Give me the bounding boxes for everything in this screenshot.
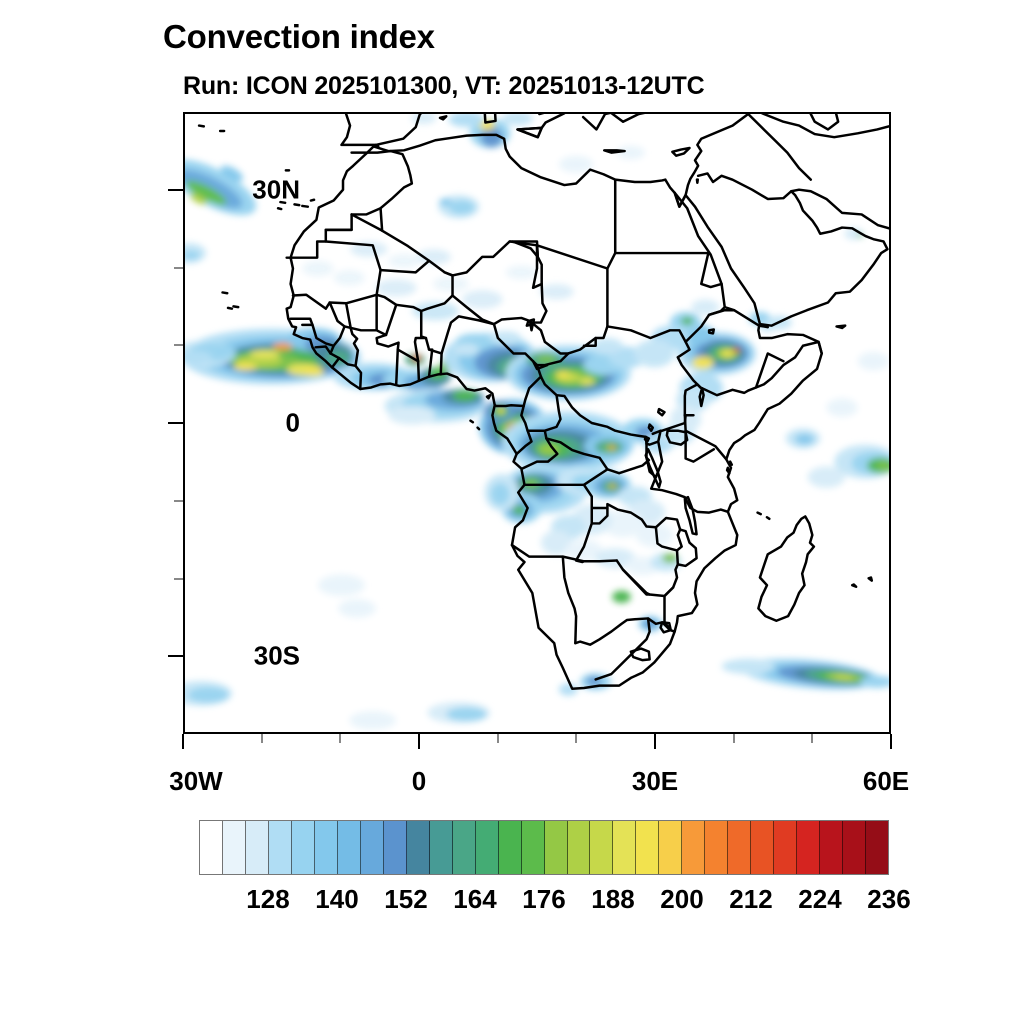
colorbar-cell [843, 821, 866, 874]
y-axis-minor-tick [174, 500, 183, 502]
colorbar-tick-label: 152 [384, 884, 427, 915]
x-axis-major-tick [182, 734, 184, 749]
x-axis-minor-tick [261, 734, 263, 743]
colorbar-cell [705, 821, 728, 874]
colorbar-cell [659, 821, 682, 874]
colorbar-cell [384, 821, 407, 874]
colorbar-cell [590, 821, 613, 874]
run-info-subtitle: Run: ICON 2025101300, VT: 20251013-12UTC [183, 72, 704, 101]
colorbar-cell [338, 821, 361, 874]
colorbar-cell [223, 821, 246, 874]
x-axis-minor-tick [575, 734, 577, 743]
x-axis-major-tick [890, 734, 892, 749]
colorbar-cell [568, 821, 591, 874]
colorbar-tick-label: 224 [798, 884, 841, 915]
colorbar-cell [292, 821, 315, 874]
colorbar-cell [315, 821, 338, 874]
y-axis-major-tick [168, 189, 183, 191]
x-tick-label-30w: 30W [169, 766, 222, 797]
x-tick-label-30e: 30E [632, 766, 678, 797]
y-axis-major-tick [168, 655, 183, 657]
colorbar-cell [774, 821, 797, 874]
colorbar-cell [636, 821, 659, 874]
colorbar-tick-label: 176 [522, 884, 565, 915]
x-tick-label-0: 0 [412, 766, 426, 797]
page-title: Convection index [163, 18, 435, 56]
y-tick-label-0: 0 [286, 408, 300, 439]
x-axis-minor-tick [733, 734, 735, 743]
colorbar-cell [820, 821, 843, 874]
y-tick-label-30n: 30N [252, 175, 300, 206]
colorbar-cell [476, 821, 499, 874]
colorbar-cell [499, 821, 522, 874]
colorbar-tick-label: 140 [315, 884, 358, 915]
x-axis-minor-tick [339, 734, 341, 743]
x-axis-major-tick [418, 734, 420, 749]
colorbar-tick-label: 200 [660, 884, 703, 915]
x-axis-major-tick [654, 734, 656, 749]
colorbar-cell [751, 821, 774, 874]
colorbar-tick-label: 212 [729, 884, 772, 915]
colorbar-cell [613, 821, 636, 874]
colorbar-cell [361, 821, 384, 874]
colorbar-cell [728, 821, 751, 874]
colorbar-cell [269, 821, 292, 874]
x-tick-label-60e: 60E [863, 766, 909, 797]
y-axis-minor-tick [174, 344, 183, 346]
x-axis-minor-tick [497, 734, 499, 743]
colorbar-cell [246, 821, 269, 874]
colorbar-cell [453, 821, 476, 874]
colorbar-cell [200, 821, 223, 874]
colorbar-cell [430, 821, 453, 874]
y-axis-minor-tick [174, 267, 183, 269]
colorbar-cell [545, 821, 568, 874]
colorbar-cell [866, 821, 888, 874]
colorbar-tick-label: 128 [246, 884, 289, 915]
colorbar-cell [407, 821, 430, 874]
colorbar-cell [682, 821, 705, 874]
colorbar-cell [522, 821, 545, 874]
y-axis-major-tick [168, 422, 183, 424]
y-axis-minor-tick [174, 578, 183, 580]
y-tick-label-30s: 30S [254, 641, 300, 672]
colorbar-tick-label: 164 [453, 884, 496, 915]
colorbar-cell [797, 821, 820, 874]
colorbar-tick-label: 188 [591, 884, 634, 915]
colorbar-tick-label: 236 [867, 884, 910, 915]
x-axis-minor-tick [811, 734, 813, 743]
colorbar[interactable] [199, 820, 889, 875]
